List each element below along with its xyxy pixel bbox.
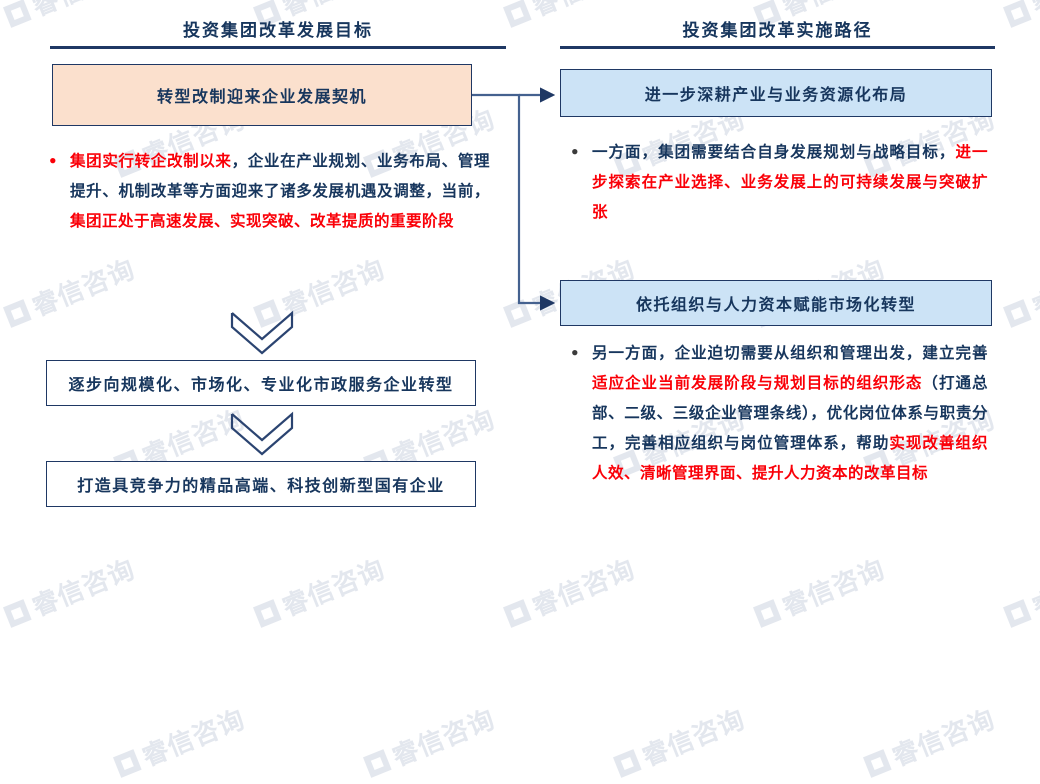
- watermark-text: 睿信咨询: [636, 699, 750, 774]
- left-paragraph: • 集团实行转企改制以来，企业在产业规划、业务布局、管理提升、机制改革等方面迎来…: [48, 146, 490, 236]
- right-paragraph-2: • 另一方面，企业迫切需要从组织和管理出发，建立完善适应企业当前发展阶段与规划目…: [570, 338, 988, 488]
- left-step-box-2[interactable]: 打造具竞争力的精品高端、科技创新型国有企业: [46, 461, 476, 507]
- right-box-2[interactable]: 依托组织与人力资本赋能市场化转型: [560, 280, 992, 326]
- watermark-mark: 睿信咨询: [860, 699, 1000, 784]
- text-run: 集团正处于高速发展、实现突破、改革提质的重要阶段: [70, 211, 454, 230]
- right-column-title: 投资集团改革实施路径: [560, 16, 995, 41]
- ruixin-logo-icon: [253, 599, 282, 628]
- ruixin-logo-icon: [3, 599, 32, 628]
- watermark-text: 睿信咨询: [526, 549, 640, 624]
- right-paragraph-1-text: 一方面，集团需要结合自身发展规划与战略目标，进一步探索在产业选择、业务发展上的可…: [570, 137, 988, 227]
- ruixin-logo-icon: [753, 599, 782, 628]
- right-paragraph-2-text: 另一方面，企业迫切需要从组织和管理出发，建立完善适应企业当前发展阶段与规划目标的…: [570, 338, 988, 488]
- right-box-2-label: 依托组织与人力资本赋能市场化转型: [636, 291, 916, 315]
- watermark-text: 睿信咨询: [136, 699, 250, 774]
- watermark-mark: 睿信咨询: [1000, 549, 1040, 634]
- watermark-text: 睿信咨询: [776, 549, 890, 624]
- text-run: 适应企业当前发展阶段与规划目标的组织形态: [592, 373, 922, 392]
- left-top-box[interactable]: 转型改制迎来企业发展契机: [52, 64, 472, 126]
- watermark-mark: 睿信咨询: [110, 699, 250, 784]
- watermark-mark: 睿信咨询: [750, 549, 890, 634]
- left-column-rule: [50, 46, 506, 49]
- ruixin-logo-icon: [363, 749, 392, 778]
- ruixin-logo-icon: [1003, 599, 1032, 628]
- watermark-text: 睿信咨询: [1026, 549, 1040, 624]
- ruixin-logo-icon: [863, 749, 892, 778]
- watermark-mark: 睿信咨询: [500, 549, 640, 634]
- ruixin-logo-icon: [613, 749, 642, 778]
- watermark-mark: 睿信咨询: [360, 699, 500, 784]
- watermark-mark: 睿信咨询: [250, 549, 390, 634]
- right-paragraph-1-bullet: •: [570, 137, 580, 167]
- text-run: 一方面，集团需要结合自身发展规划与战略目标，: [592, 142, 955, 161]
- left-step-box-2-label: 打造具竞争力的精品高端、科技创新型国有企业: [77, 472, 445, 496]
- left-top-box-label: 转型改制迎来企业发展契机: [157, 83, 367, 107]
- chevron-down-icon-1: [232, 313, 292, 353]
- right-box-1-label: 进一步深耕产业与业务资源化布局: [645, 81, 908, 105]
- watermark-mark: 睿信咨询: [0, 549, 140, 634]
- ruixin-logo-icon: [113, 749, 142, 778]
- right-paragraph-1: • 一方面，集团需要结合自身发展规划与战略目标，进一步探索在产业选择、业务发展上…: [570, 137, 988, 227]
- watermark-text: 睿信咨询: [386, 699, 500, 774]
- watermark-text: 睿信咨询: [276, 549, 390, 624]
- watermark-text: 睿信咨询: [26, 549, 140, 624]
- watermark-mark: 睿信咨询: [610, 699, 750, 784]
- right-paragraph-2-bullet: •: [570, 338, 580, 368]
- text-run: 另一方面，企业迫切需要从组织和管理出发，建立完善: [592, 343, 988, 362]
- ruixin-logo-icon: [503, 599, 532, 628]
- left-column-title: 投资集团改革发展目标: [50, 16, 506, 41]
- left-paragraph-text: 集团实行转企改制以来，企业在产业规划、业务布局、管理提升、机制改革等方面迎来了诸…: [48, 146, 490, 236]
- left-paragraph-bullet: •: [48, 146, 58, 176]
- chevron-down-icon-2: [232, 414, 292, 454]
- text-run: 集团实行转企改制以来: [70, 151, 232, 170]
- left-step-box-1[interactable]: 逐步向规模化、市场化、专业化市政服务企业转型: [46, 360, 476, 406]
- right-box-1[interactable]: 进一步深耕产业与业务资源化布局: [560, 69, 992, 117]
- slide-canvas: 投资集团改革发展目标 转型改制迎来企业发展契机 • 集团实行转企改制以来，企业在…: [0, 0, 1040, 534]
- left-step-box-1-label: 逐步向规模化、市场化、专业化市政服务企业转型: [68, 371, 453, 395]
- watermark-text: 睿信咨询: [886, 699, 1000, 774]
- right-column-rule: [560, 46, 995, 49]
